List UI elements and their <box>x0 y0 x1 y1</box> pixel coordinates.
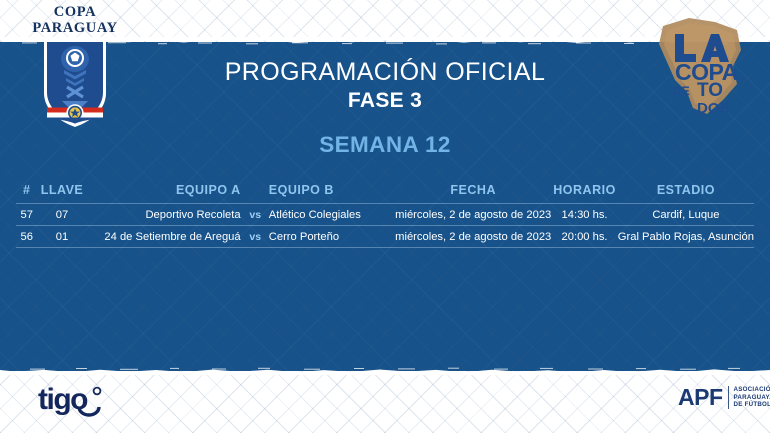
bottom-white-band <box>0 371 770 433</box>
schedule-graphic: COPA PARAGUAY <box>0 0 770 433</box>
table-header-row: # LLAVE EQUIPO A EQUIPO B FECHA HORARIO … <box>16 183 754 204</box>
svg-text:DOS: DOS <box>697 100 730 117</box>
svg-text:DE: DE <box>673 84 690 98</box>
cell-llave: 07 <box>37 204 86 226</box>
cell-llave: 01 <box>37 226 86 248</box>
cell-team-b: Cerro Porteño <box>263 226 395 248</box>
column-header-team-b: EQUIPO B <box>263 183 395 204</box>
week-subtitle: SEMANA 12 <box>0 132 770 158</box>
schedule-table: # LLAVE EQUIPO A EQUIPO B FECHA HORARIO … <box>16 183 754 248</box>
column-header-fecha: FECHA <box>395 183 551 204</box>
column-header-llave: LLAVE <box>37 183 86 204</box>
schedule-table-container: # LLAVE EQUIPO A EQUIPO B FECHA HORARIO … <box>16 183 754 248</box>
cell-horario: 14:30 hs. <box>551 204 618 226</box>
column-header-estadio: ESTADIO <box>618 183 754 204</box>
apf-subtitle: ASOCIACIÓN PARAGUAYA DE FÚTBOL <box>734 386 770 408</box>
cell-number: 57 <box>16 204 37 226</box>
cell-horario: 20:00 hs. <box>551 226 618 248</box>
column-header-vs <box>248 183 263 204</box>
column-header-number: # <box>16 183 37 204</box>
svg-text:TO: TO <box>697 80 723 101</box>
apf-subtitle-line1: ASOCIACIÓN <box>734 386 770 393</box>
cell-team-a: 24 de Setiembre de Areguá <box>86 226 247 248</box>
cell-team-a: Deportivo Recoleta <box>86 204 247 226</box>
copa-paraguay-wordmark: COPA PARAGUAY <box>20 2 130 36</box>
apf-subtitle-line3: DE FÚTBOL <box>734 401 770 408</box>
apf-divider <box>728 386 729 409</box>
cell-vs: vs <box>248 204 263 226</box>
apf-subtitle-line2: PARAGUAYA <box>734 394 770 401</box>
column-header-team-a: EQUIPO A <box>86 183 247 204</box>
la-copa-de-todos-logo: COPA DE TO DOS <box>645 4 760 119</box>
cell-vs: vs <box>248 226 263 248</box>
cell-estadio: Cardif, Luque <box>618 204 754 226</box>
column-header-horario: HORARIO <box>551 183 618 204</box>
copa-wordmark-line1: COPA <box>20 5 130 21</box>
cell-fecha: miércoles, 2 de agosto de 2023 <box>395 226 551 248</box>
copa-wordmark-line2: PARAGUAY <box>20 21 130 37</box>
cell-team-b: Atlético Colegiales <box>263 204 395 226</box>
apf-mark: APF <box>678 386 723 409</box>
tigo-logo: tigo <box>38 383 110 422</box>
table-row: 57 07 Deportivo Recoleta vs Atlético Col… <box>16 204 754 226</box>
table-body: 57 07 Deportivo Recoleta vs Atlético Col… <box>16 204 754 248</box>
table-row: 56 01 24 de Setiembre de Areguá vs Cerro… <box>16 226 754 248</box>
cell-estadio: Gral Pablo Rojas, Asunción <box>618 226 754 248</box>
cell-fecha: miércoles, 2 de agosto de 2023 <box>395 204 551 226</box>
table-header: # LLAVE EQUIPO A EQUIPO B FECHA HORARIO … <box>16 183 754 204</box>
apf-logo: APF ASOCIACIÓN PARAGUAYA DE FÚTBOL <box>678 386 770 409</box>
cell-number: 56 <box>16 226 37 248</box>
copa-paraguay-shield-icon <box>42 37 108 129</box>
copa-paraguay-logo: COPA PARAGUAY <box>20 2 130 130</box>
